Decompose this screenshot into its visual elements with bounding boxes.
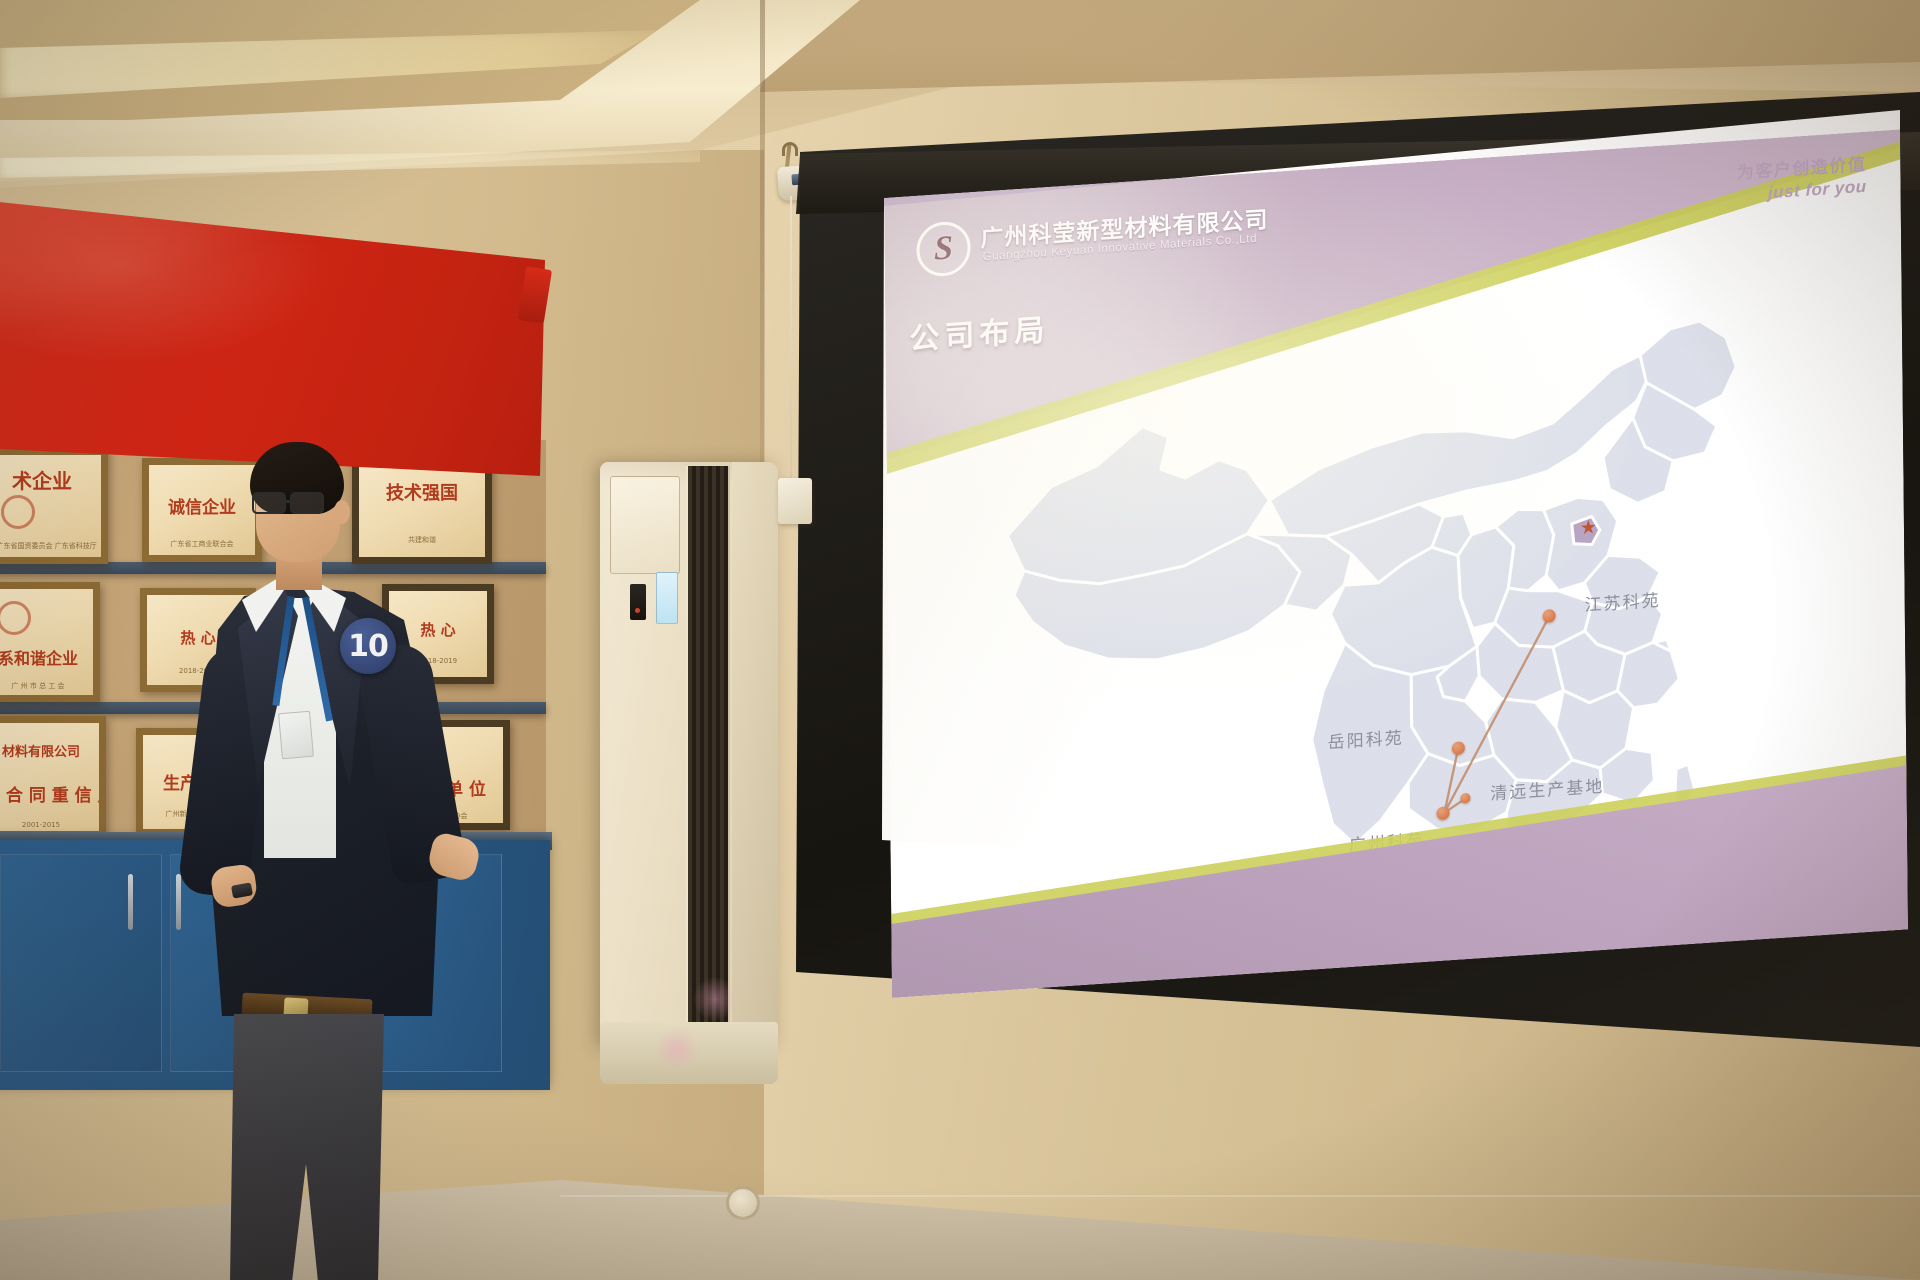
- presenter-trousers: [226, 1014, 392, 1280]
- presenter-id-badge: [278, 711, 314, 760]
- award-plaque: 术企业 厅 广东省国资委员会 广东省科技厅: [0, 448, 108, 564]
- floor-seam: [560, 1195, 1920, 1197]
- contestant-number: 10: [348, 629, 388, 664]
- screen-pull-cord[interactable]: [790, 196, 792, 496]
- plaque-title: 术企业: [0, 465, 101, 494]
- logo-letter: S: [934, 231, 953, 266]
- ac-front-panel: [610, 476, 680, 574]
- ac-power-led-icon: [635, 608, 640, 613]
- plaque-title: 材料有限公司: [0, 741, 99, 760]
- glasses-icon: [252, 492, 286, 514]
- projection-screen: ★ 江苏科苑 岳阳科苑 清远生产基地 广州科苑 S 广州科莹新型材料有限公司: [796, 92, 1920, 1102]
- ac-vent-grille: [686, 466, 730, 1044]
- plaque-seal-icon: [1, 495, 35, 529]
- award-plaque: 系和谐企业 广 州 市 总 工 会: [0, 582, 100, 702]
- ac-base: [600, 1022, 778, 1084]
- plaque-sub: 广 州 市 总 工 会: [0, 681, 93, 691]
- plaque-sub: 厅 广东省国资委员会 广东省科技厅: [0, 541, 101, 551]
- presenter: 10: [176, 436, 516, 1280]
- plaque-title: 系和谐企业: [0, 645, 93, 669]
- company-logo-icon: S: [916, 220, 971, 278]
- ac-decor-icon: [692, 976, 738, 1022]
- ac-display: [630, 584, 646, 620]
- photo-scene: ★ 江苏科苑 岳阳科苑 清远生产基地 广州科苑 S 广州科莹新型材料有限公司: [0, 0, 1920, 1280]
- plaque-seal-icon: [0, 601, 31, 635]
- presentation-slide: ★ 江苏科苑 岳阳科苑 清远生产基地 广州科苑 S 广州科莹新型材料有限公司: [884, 129, 1908, 998]
- ac-energy-label: [656, 572, 678, 624]
- wall-corner-seam: [760, 0, 765, 520]
- map-label-jiangsu: 江苏科苑: [1584, 586, 1660, 616]
- capital-star-icon: ★: [1580, 518, 1597, 538]
- plaque-sub: 2001-2015: [0, 821, 99, 829]
- cabinet-handle[interactable]: [128, 874, 133, 930]
- award-plaque: 材料有限公司 守 合 同 重 信 用 企 业 2001-2015: [0, 716, 106, 838]
- contestant-number-badge: 10: [340, 618, 396, 674]
- presenter-ear: [334, 500, 350, 524]
- ac-side-panel: [732, 462, 778, 1047]
- slide-tagline: 为客户创造价值 just for you: [1737, 150, 1867, 206]
- ac-floor-outlet: [726, 1186, 760, 1220]
- glasses-icon: [290, 492, 324, 514]
- wall-switch[interactable]: [778, 478, 812, 524]
- glasses-bridge-icon: [286, 500, 292, 503]
- air-conditioner: [600, 462, 778, 1047]
- cabinet-door[interactable]: [0, 854, 162, 1072]
- map-label-yueyang: 岳阳科苑: [1328, 723, 1404, 753]
- plaque-title: 守 合 同 重 信 用 企 业: [0, 781, 99, 806]
- ac-decor-icon: [654, 1026, 700, 1072]
